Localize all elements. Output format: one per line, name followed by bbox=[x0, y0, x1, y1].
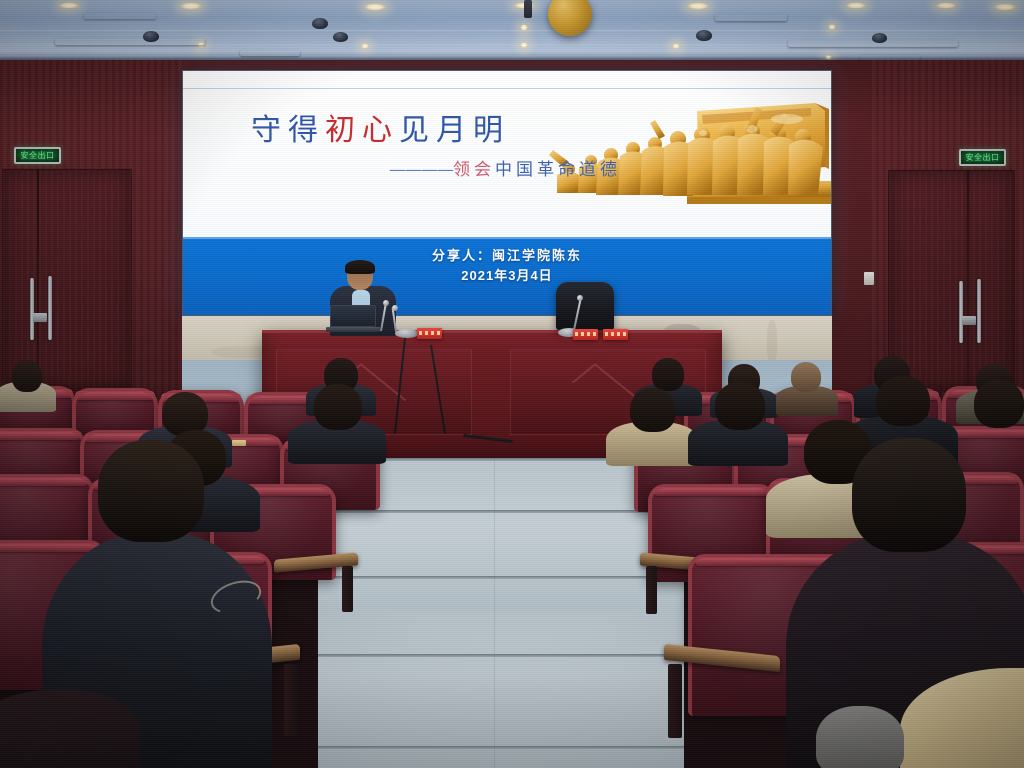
slide-title-part3: 见月明 bbox=[399, 113, 510, 148]
slide-title: 守得初心见月明 bbox=[251, 105, 510, 149]
mic-base bbox=[395, 329, 419, 338]
name-placard bbox=[573, 329, 598, 340]
empty-chair bbox=[556, 282, 614, 330]
air-vent bbox=[715, 14, 787, 21]
air-vent bbox=[55, 38, 205, 45]
audience-member bbox=[700, 382, 778, 450]
audience-member bbox=[0, 360, 52, 404]
slide-subtitle-red: 领会 bbox=[453, 160, 495, 180]
slide-title-part2: 初心 bbox=[325, 113, 399, 148]
air-vent bbox=[240, 50, 300, 56]
microphone-head bbox=[392, 305, 398, 311]
slide-subtitle-blue: 中国革命道德 bbox=[495, 160, 621, 180]
microphone-head bbox=[577, 295, 583, 301]
recessed-downlight bbox=[935, 2, 957, 9]
microphone-head bbox=[383, 300, 389, 306]
slide-presenter-line: 分享人：闽江学院陈东 bbox=[183, 245, 831, 264]
recessed-downlight bbox=[520, 24, 528, 31]
projection-screen: 守得初心见月明 ————领会中国革命道德 分享人：闽江学院陈东 2021年3月4… bbox=[182, 70, 832, 316]
exit-sign-right: 安全出口 bbox=[959, 149, 1006, 166]
air-vent bbox=[788, 40, 958, 47]
laptop bbox=[326, 305, 380, 332]
slide-subtitle-dash: ———— bbox=[389, 160, 453, 180]
projector-mount bbox=[524, 0, 532, 18]
audience-member bbox=[616, 388, 690, 452]
lecture-hall-photo: 安全出口 安全出口 bbox=[0, 0, 1024, 768]
recessed-downlight bbox=[520, 42, 528, 48]
exit-sign-left: 安全出口 bbox=[14, 147, 61, 164]
armrest-post bbox=[646, 566, 657, 614]
ceiling-speaker bbox=[696, 30, 712, 41]
door-lock bbox=[33, 313, 47, 322]
door-handle[interactable] bbox=[959, 281, 963, 343]
recessed-downlight bbox=[58, 2, 80, 9]
door-handle[interactable] bbox=[48, 276, 52, 340]
slide-footer-band: 分享人：闽江学院陈东 2021年3月4日 bbox=[183, 237, 831, 315]
exit-sign-right-label: 安全出口 bbox=[966, 152, 1000, 163]
recessed-downlight bbox=[993, 3, 1017, 11]
recessed-downlight bbox=[363, 3, 387, 11]
audience-member bbox=[300, 384, 376, 450]
armrest-post bbox=[342, 566, 353, 612]
armrest-post bbox=[284, 664, 298, 736]
door-handle[interactable] bbox=[977, 279, 981, 343]
audience-member-head bbox=[816, 706, 904, 768]
armrest-post bbox=[668, 664, 682, 738]
recessed-downlight bbox=[845, 2, 867, 9]
audience-member bbox=[780, 362, 832, 406]
presentation-slide: 守得初心见月明 ————领会中国革命道德 分享人：闽江学院陈东 2021年3月4… bbox=[183, 71, 831, 315]
door-handle[interactable] bbox=[30, 278, 34, 340]
recessed-downlight bbox=[828, 24, 836, 30]
recessed-downlight bbox=[179, 2, 203, 10]
air-vent bbox=[84, 13, 156, 19]
left-exit-door[interactable] bbox=[2, 169, 132, 391]
recessed-downlight bbox=[672, 43, 680, 49]
ceiling-speaker bbox=[333, 32, 348, 42]
door-lock bbox=[962, 316, 976, 325]
ceiling bbox=[0, 0, 1024, 64]
audience-member bbox=[0, 690, 140, 768]
exit-sign-left-label: 安全出口 bbox=[21, 150, 55, 161]
light-switch[interactable] bbox=[864, 272, 874, 285]
name-placard bbox=[417, 328, 442, 339]
recessed-downlight bbox=[686, 2, 710, 10]
ceiling-speaker bbox=[312, 18, 328, 29]
name-placard bbox=[603, 329, 628, 340]
slide-subtitle: ————领会中国革命道德 bbox=[389, 155, 621, 180]
slide-date-line: 2021年3月4日 bbox=[183, 265, 831, 284]
recessed-downlight bbox=[361, 43, 369, 49]
slide-title-part1: 守得 bbox=[251, 113, 325, 148]
